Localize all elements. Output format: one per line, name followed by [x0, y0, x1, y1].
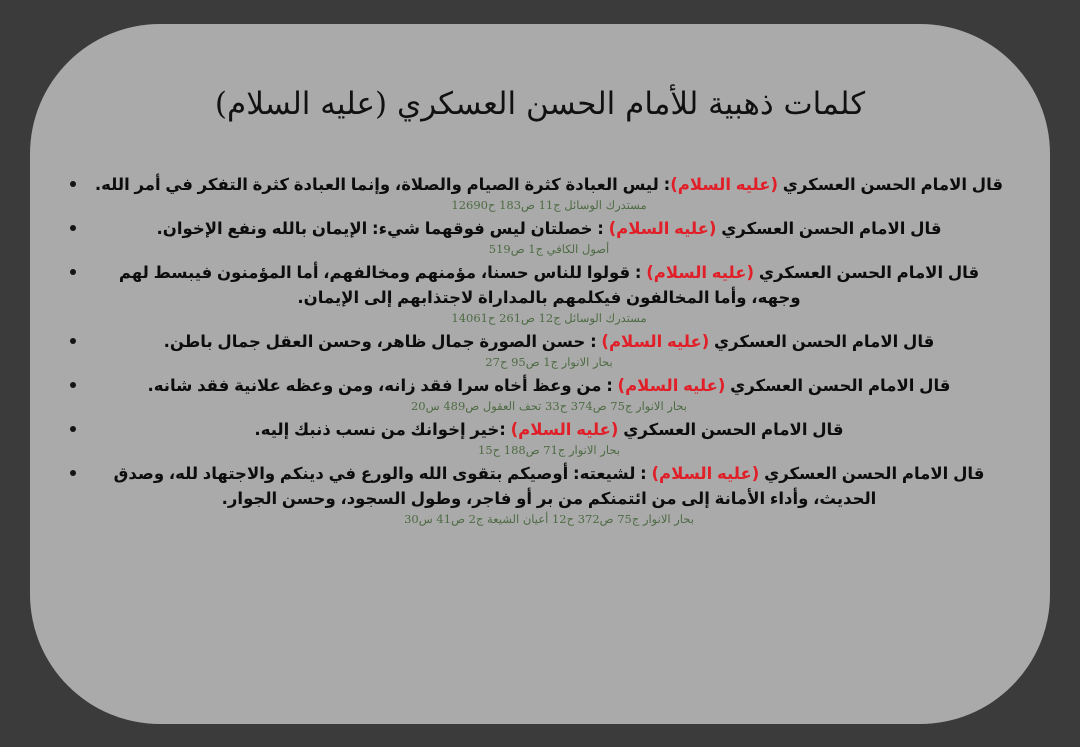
saying-text: قال الامام الحسن العسكري (عليه السلام) :… [94, 260, 1004, 310]
saying-text: قال الامام الحسن العسكري (عليه السلام) :… [94, 329, 1004, 354]
saying-separator: : [590, 332, 601, 351]
saying-text: قال الامام الحسن العسكري (عليه السلام) :… [94, 216, 1004, 241]
saying-body: من وعظ أخاه سرا فقد زانه، ومن وعظه علاني… [148, 376, 607, 395]
page-title: كلمات ذهبية للأمام الحسن العسكري (عليه ا… [30, 86, 1050, 122]
saying-attribution: قال الامام الحسن العسكري [764, 464, 984, 483]
saying-attribution: قال الامام الحسن العسكري [714, 332, 934, 351]
citation-reference: بحار الانوار ج75 ص374 ح33 تحف العقول ص48… [94, 399, 1004, 414]
slide-root: كلمات ذهبية للأمام الحسن العسكري (عليه ا… [0, 0, 1080, 747]
citation-reference: أصول الكافي ج1 ص519 [94, 242, 1004, 257]
saying-separator: : [499, 420, 510, 439]
list-item: قال الامام الحسن العسكري (عليه السلام): … [66, 172, 1004, 213]
list-item: قال الامام الحسن العسكري (عليه السلام) :… [66, 373, 1004, 414]
saying-body: أوصيكم بتقوى الله والورع في دينكم والاجت… [114, 464, 877, 508]
bullet-marker-icon [70, 382, 76, 388]
bullet-marker-icon [70, 338, 76, 344]
saying-body: ليس العبادة كثرة الصيام والصلاة، وإنما ا… [95, 175, 664, 194]
saying-body: حسن الصورة جمال ظاهر، وحسن العقل جمال با… [164, 332, 590, 351]
bullet-marker-icon [70, 181, 76, 187]
saying-separator: : [597, 219, 608, 238]
sayings-list: قال الامام الحسن العسكري (عليه السلام): … [66, 172, 1004, 530]
honorific-label: (عليه السلام) [670, 175, 778, 194]
saying-attribution: قال الامام الحسن العسكري [623, 420, 843, 439]
list-item: قال الامام الحسن العسكري (عليه السلام) :… [66, 216, 1004, 257]
saying-attribution: قال الامام الحسن العسكري [721, 219, 941, 238]
list-item: قال الامام الحسن العسكري (عليه السلام) :… [66, 260, 1004, 326]
slide-card: كلمات ذهبية للأمام الحسن العسكري (عليه ا… [30, 24, 1050, 724]
bullet-marker-icon [70, 470, 76, 476]
saying-text: قال الامام الحسن العسكري (عليه السلام) :… [94, 417, 1004, 442]
saying-text: قال الامام الحسن العسكري (عليه السلام): … [94, 172, 1004, 197]
citation-reference: مستدرك الوسائل ج12 ص261 ح14061 [94, 311, 1004, 326]
honorific-label: (عليه السلام) [511, 420, 619, 439]
bullet-marker-icon [70, 225, 76, 231]
saying-body: خصلتان ليس فوقهما شيء: الإيمان بالله ونف… [156, 219, 597, 238]
citation-reference: بحار الانوار ج71 ص188 ح15 [94, 443, 1004, 458]
saying-body: خير إخوانك من نسب ذنبك إليه. [254, 420, 499, 439]
saying-text: قال الامام الحسن العسكري (عليه السلام) :… [94, 373, 1004, 398]
saying-separator: : [606, 376, 617, 395]
list-item: قال الامام الحسن العسكري (عليه السلام) :… [66, 461, 1004, 527]
saying-attribution: قال الامام الحسن العسكري [783, 175, 1003, 194]
bullet-marker-icon [70, 426, 76, 432]
list-item: قال الامام الحسن العسكري (عليه السلام) :… [66, 329, 1004, 370]
citation-reference: مستدرك الوسائل ج11 ص183 ح12690 [94, 198, 1004, 213]
bullet-marker-icon [70, 269, 76, 275]
citation-reference: بحار الانوار ج1 ص95 ح27 [94, 355, 1004, 370]
saying-attribution: قال الامام الحسن العسكري [759, 263, 979, 282]
citation-reference: بحار الانوار ج75 ص372 ح12 أعيان الشيعة ج… [94, 512, 1004, 527]
saying-separator: : لشيعته: [573, 464, 651, 483]
list-item: قال الامام الحسن العسكري (عليه السلام) :… [66, 417, 1004, 458]
honorific-label: (عليه السلام) [609, 219, 717, 238]
saying-attribution: قال الامام الحسن العسكري [730, 376, 950, 395]
honorific-label: (عليه السلام) [618, 376, 726, 395]
saying-text: قال الامام الحسن العسكري (عليه السلام) :… [94, 461, 1004, 511]
honorific-label: (عليه السلام) [646, 263, 754, 282]
honorific-label: (عليه السلام) [651, 464, 759, 483]
honorific-label: (عليه السلام) [601, 332, 709, 351]
saying-separator: : [635, 263, 646, 282]
